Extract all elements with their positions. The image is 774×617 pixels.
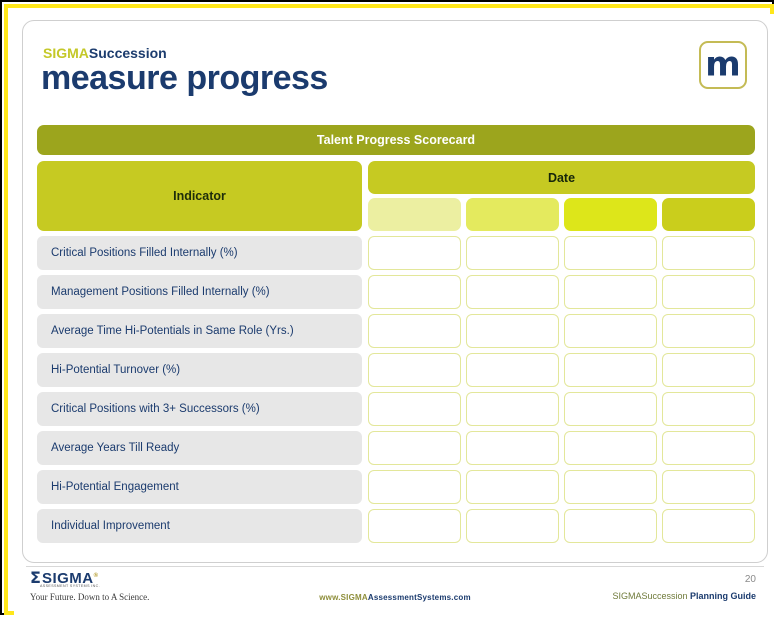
column-header-date: Date xyxy=(368,161,755,194)
value-input-r6-c2[interactable] xyxy=(466,431,559,465)
indicator-label: Management Positions Filled Internally (… xyxy=(37,275,362,309)
page-title: measure progress xyxy=(41,59,328,98)
slide-canvas: SIGMASuccession measure progress m Talen… xyxy=(14,14,774,617)
table-row: Critical Positions with 3+ Successors (%… xyxy=(37,392,755,426)
table-row: Critical Positions Filled Internally (%) xyxy=(37,236,755,270)
talent-progress-scorecard: Talent Progress Scorecard Indicator Date… xyxy=(37,125,755,543)
value-input-r2-c2[interactable] xyxy=(466,275,559,309)
value-input-r5-c4[interactable] xyxy=(662,392,755,426)
column-header-indicator: Indicator xyxy=(37,161,362,231)
value-input-r7-c2[interactable] xyxy=(466,470,559,504)
value-input-r5-c1[interactable] xyxy=(368,392,461,426)
table-row: Hi-Potential Turnover (%) xyxy=(37,353,755,387)
value-input-r6-c3[interactable] xyxy=(564,431,657,465)
indicator-label: Average Years Till Ready xyxy=(37,431,362,465)
value-input-r2-c3[interactable] xyxy=(564,275,657,309)
value-group xyxy=(368,275,755,309)
value-input-r7-c1[interactable] xyxy=(368,470,461,504)
value-input-r3-c2[interactable] xyxy=(466,314,559,348)
footer-guide-brand: SIGMASuccession xyxy=(612,591,687,601)
footer-divider xyxy=(26,566,764,567)
table-row: Hi-Potential Engagement xyxy=(37,470,755,504)
indicator-label: Hi-Potential Engagement xyxy=(37,470,362,504)
value-input-r3-c4[interactable] xyxy=(662,314,755,348)
value-input-r3-c1[interactable] xyxy=(368,314,461,348)
value-input-r8-c4[interactable] xyxy=(662,509,755,543)
indicator-label: Individual Improvement xyxy=(37,509,362,543)
registered-icon: ® xyxy=(94,573,99,579)
measure-logo-badge: m xyxy=(699,41,747,89)
slide-outer-frame: SIGMASuccession measure progress m Talen… xyxy=(0,0,774,615)
value-input-r1-c3[interactable] xyxy=(564,236,657,270)
indicator-label: Hi-Potential Turnover (%) xyxy=(37,353,362,387)
scorecard-header-band: Indicator Date xyxy=(37,161,755,231)
value-group xyxy=(368,236,755,270)
date-column-input-2[interactable] xyxy=(466,198,559,231)
value-input-r8-c1[interactable] xyxy=(368,509,461,543)
value-input-r2-c4[interactable] xyxy=(662,275,755,309)
date-column-input-4[interactable] xyxy=(662,198,755,231)
page-number: 20 xyxy=(745,574,756,585)
value-input-r2-c1[interactable] xyxy=(368,275,461,309)
value-input-r1-c2[interactable] xyxy=(466,236,559,270)
value-input-r7-c3[interactable] xyxy=(564,470,657,504)
value-input-r4-c4[interactable] xyxy=(662,353,755,387)
slide-yellow-frame: SIGMASuccession measure progress m Talen… xyxy=(4,4,774,615)
value-group xyxy=(368,431,755,465)
value-input-r5-c3[interactable] xyxy=(564,392,657,426)
value-input-r8-c3[interactable] xyxy=(564,509,657,543)
value-input-r1-c4[interactable] xyxy=(662,236,755,270)
value-group xyxy=(368,314,755,348)
footer-guide-label: SIGMASuccession Planning Guide xyxy=(612,591,756,601)
footer-url-brand: www.SIGMA xyxy=(319,593,368,602)
value-input-r4-c3[interactable] xyxy=(564,353,657,387)
value-input-r7-c4[interactable] xyxy=(662,470,755,504)
value-input-r6-c4[interactable] xyxy=(662,431,755,465)
footer-url-rest: AssessmentSystems.com xyxy=(368,593,471,602)
scorecard-rows: Critical Positions Filled Internally (%)… xyxy=(37,236,755,543)
table-row: Average Years Till Ready xyxy=(37,431,755,465)
value-input-r4-c2[interactable] xyxy=(466,353,559,387)
value-input-r6-c1[interactable] xyxy=(368,431,461,465)
footer-guide-text: Planning Guide xyxy=(687,591,756,601)
date-column-input-1[interactable] xyxy=(368,198,461,231)
date-column-inputs xyxy=(368,198,755,231)
value-input-r4-c1[interactable] xyxy=(368,353,461,387)
value-group xyxy=(368,509,755,543)
slide-card: SIGMASuccession measure progress m Talen… xyxy=(22,20,768,563)
indicator-label: Critical Positions with 3+ Successors (%… xyxy=(37,392,362,426)
table-row: Individual Improvement xyxy=(37,509,755,543)
indicator-label: Critical Positions Filled Internally (%) xyxy=(37,236,362,270)
value-group xyxy=(368,392,755,426)
table-row: Average Time Hi-Potentials in Same Role … xyxy=(37,314,755,348)
value-input-r5-c2[interactable] xyxy=(466,392,559,426)
value-input-r1-c1[interactable] xyxy=(368,236,461,270)
slide-header: SIGMASuccession measure progress m xyxy=(23,21,769,113)
indicator-label: Average Time Hi-Potentials in Same Role … xyxy=(37,314,362,348)
measure-m-icon: m xyxy=(701,47,745,81)
table-row: Management Positions Filled Internally (… xyxy=(37,275,755,309)
value-input-r8-c2[interactable] xyxy=(466,509,559,543)
value-group xyxy=(368,470,755,504)
scorecard-title: Talent Progress Scorecard xyxy=(37,125,755,155)
slide-footer: Σ SIGMA® ASSESSMENT SYSTEMS INC. Your Fu… xyxy=(22,566,768,614)
sigma-logo-subtext: ASSESSMENT SYSTEMS INC. xyxy=(40,584,100,588)
value-input-r3-c3[interactable] xyxy=(564,314,657,348)
value-group xyxy=(368,353,755,387)
date-column-input-3[interactable] xyxy=(564,198,657,231)
